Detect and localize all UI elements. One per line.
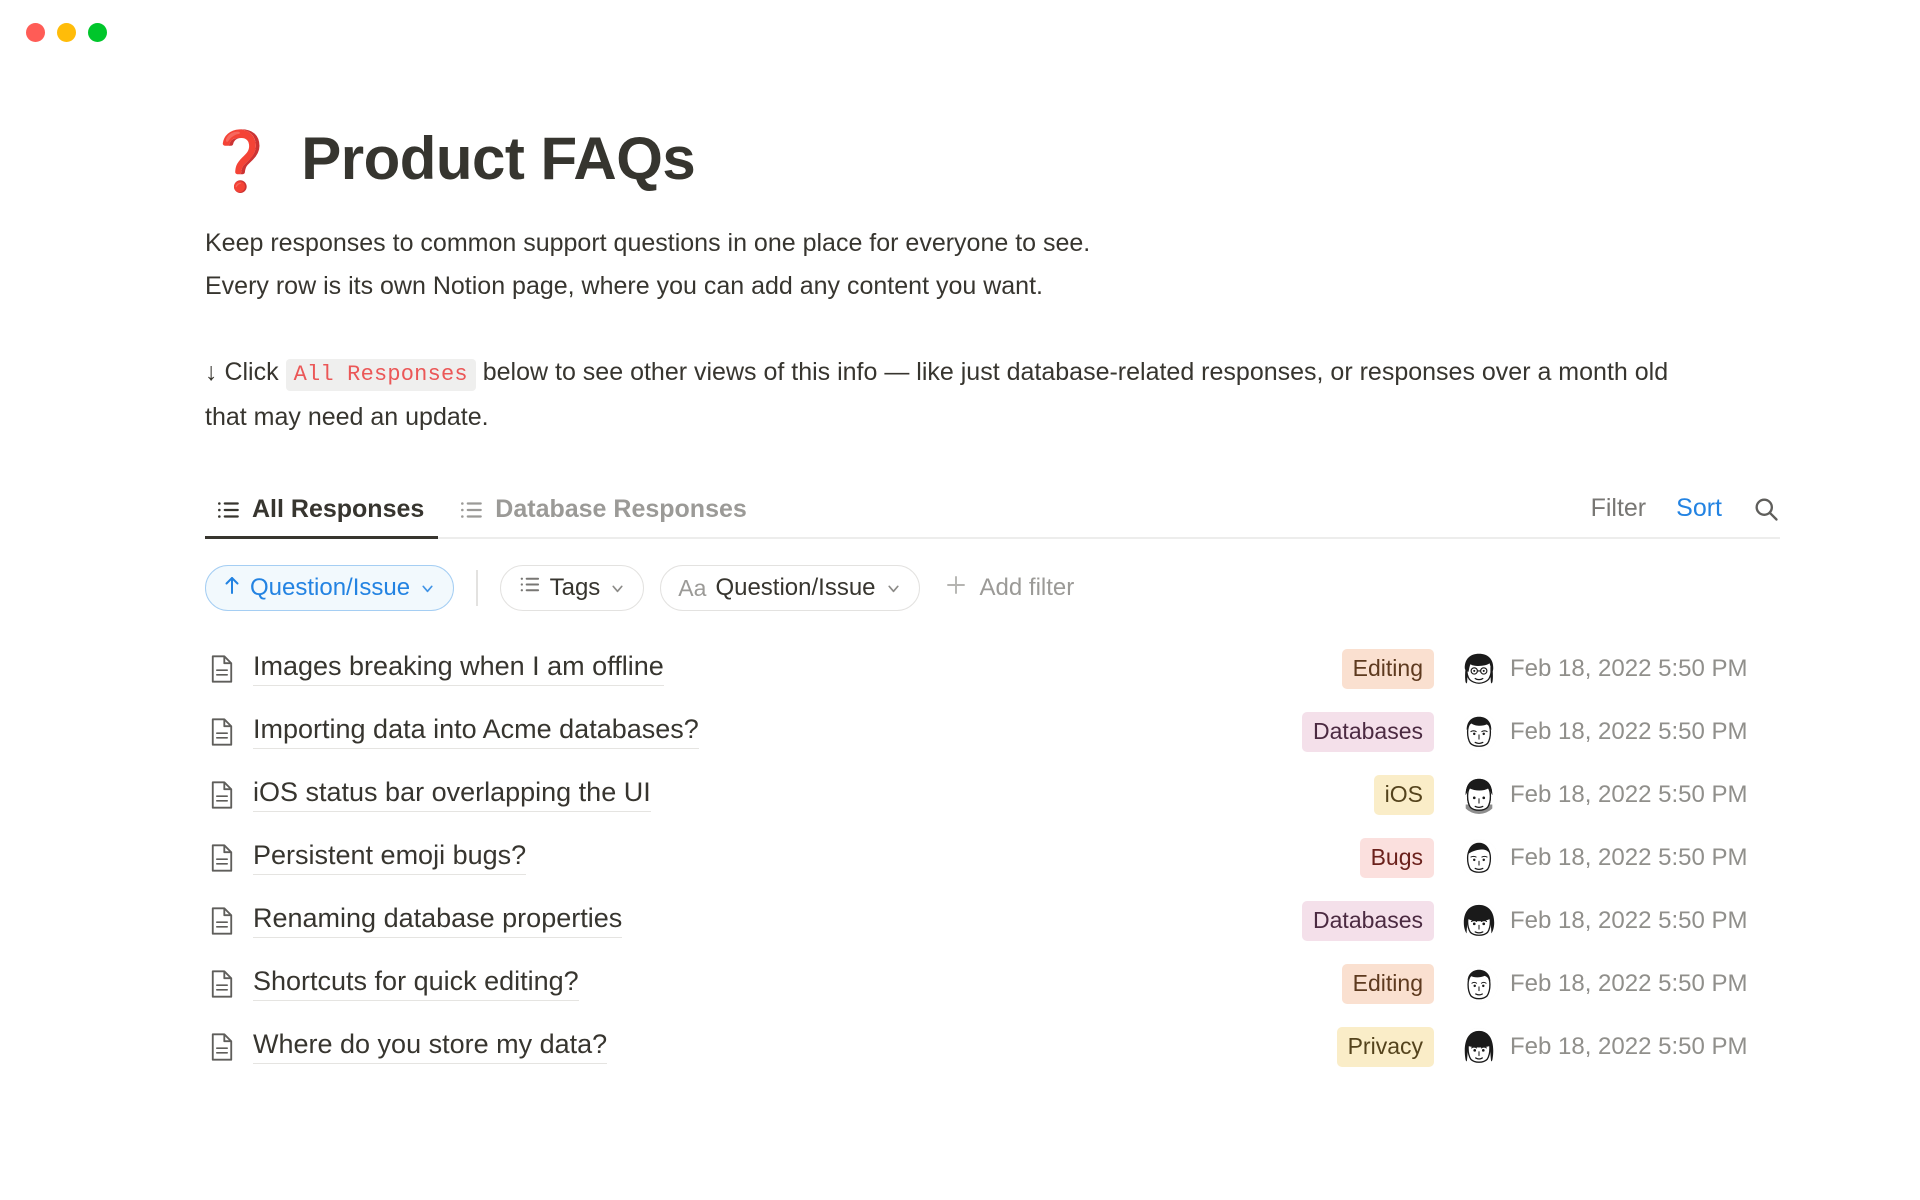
row-avatar-cell — [1448, 839, 1510, 877]
response-list: Images breaking when I am offlineEditing… — [205, 637, 1780, 1078]
description-spacer — [205, 308, 1715, 351]
row-avatar-cell — [1448, 776, 1510, 814]
document-icon — [205, 906, 239, 936]
row-tag-cell: Bugs — [1198, 838, 1448, 878]
row-avatar-cell — [1448, 713, 1510, 751]
status-badge[interactable]: iOS — [1374, 775, 1434, 815]
row-tag-cell: Databases — [1198, 712, 1448, 752]
row-title[interactable]: Shortcuts for quick editing? — [253, 966, 579, 1001]
row-avatar-cell — [1448, 650, 1510, 688]
row-tag-cell: Databases — [1198, 901, 1448, 941]
avatar[interactable] — [1460, 839, 1498, 877]
status-badge[interactable]: Editing — [1342, 649, 1434, 689]
row-title[interactable]: Images breaking when I am offline — [253, 651, 664, 686]
page-title: Product FAQs — [301, 129, 695, 189]
avatar[interactable] — [1460, 713, 1498, 751]
status-badge[interactable]: Databases — [1302, 712, 1434, 752]
filter-chip-tags[interactable]: Tags — [500, 565, 645, 611]
table-row[interactable]: Importing data into Acme databases?Datab… — [205, 700, 1780, 763]
chevron-down-icon — [419, 580, 436, 597]
chevron-down-icon — [885, 580, 902, 597]
sort-chip-label: Question/Issue — [250, 574, 410, 602]
chip-divider — [476, 570, 478, 606]
maximize-button[interactable] — [88, 23, 107, 42]
view-tabs: All Responses Database Responses — [205, 485, 761, 537]
add-filter-button[interactable]: Add filter — [944, 573, 1075, 604]
avatar[interactable] — [1460, 1028, 1498, 1066]
view-tabbar: All Responses Database Responses Filter … — [205, 485, 1780, 539]
question-mark-emoji-icon: ❓ — [205, 132, 277, 190]
description-callout: ↓ Click All Responses below to see other… — [205, 351, 1715, 439]
page-description: Keep responses to common support questio… — [205, 222, 1715, 439]
row-avatar-cell — [1448, 902, 1510, 940]
filter-chip-label: Question/Issue — [715, 574, 875, 602]
row-date: Feb 18, 2022 5:50 PM — [1510, 907, 1780, 935]
row-avatar-cell — [1448, 965, 1510, 1003]
arrow-up-icon — [223, 574, 241, 602]
filter-chip-row: Question/Issue Tags Aa Question/ — [205, 563, 1780, 613]
sort-chip-question-issue[interactable]: Question/Issue — [205, 565, 454, 611]
row-date: Feb 18, 2022 5:50 PM — [1510, 844, 1780, 872]
sort-button[interactable]: Sort — [1676, 494, 1722, 523]
avatar[interactable] — [1460, 902, 1498, 940]
filter-chip-label: Tags — [550, 574, 601, 602]
row-title[interactable]: Where do you store my data? — [253, 1029, 607, 1064]
close-button[interactable] — [26, 23, 45, 42]
row-date: Feb 18, 2022 5:50 PM — [1510, 718, 1780, 746]
status-badge[interactable]: Databases — [1302, 901, 1434, 941]
document-icon — [205, 717, 239, 747]
filter-button[interactable]: Filter — [1591, 494, 1647, 523]
row-tag-cell: Editing — [1198, 649, 1448, 689]
avatar[interactable] — [1460, 965, 1498, 1003]
row-title[interactable]: Importing data into Acme databases? — [253, 714, 699, 749]
list-icon — [458, 497, 484, 523]
table-row[interactable]: Images breaking when I am offlineEditing… — [205, 637, 1780, 700]
table-row[interactable]: Persistent emoji bugs?Bugs Feb 18, 2022 … — [205, 826, 1780, 889]
document-icon — [205, 654, 239, 684]
table-row[interactable]: Where do you store my data?Privacy Feb 1… — [205, 1015, 1780, 1078]
tab-all-responses[interactable]: All Responses — [205, 485, 438, 537]
row-date: Feb 18, 2022 5:50 PM — [1510, 1033, 1780, 1061]
document-icon — [205, 969, 239, 999]
callout-prefix: ↓ Click — [205, 358, 279, 386]
tab-database-responses[interactable]: Database Responses — [448, 485, 761, 537]
row-date: Feb 18, 2022 5:50 PM — [1510, 781, 1780, 809]
row-tag-cell: Editing — [1198, 964, 1448, 1004]
status-badge[interactable]: Privacy — [1337, 1027, 1434, 1067]
status-badge[interactable]: Bugs — [1360, 838, 1434, 878]
page-content: ❓ Product FAQs Keep responses to common … — [0, 120, 1920, 1078]
avatar[interactable] — [1460, 776, 1498, 814]
row-avatar-cell — [1448, 1028, 1510, 1066]
filter-chip-question-issue[interactable]: Aa Question/Issue — [660, 565, 919, 611]
document-icon — [205, 1032, 239, 1062]
description-line-1: Keep responses to common support questio… — [205, 222, 1715, 265]
tab-label: All Responses — [252, 495, 424, 524]
document-icon — [205, 843, 239, 873]
list-icon — [215, 497, 241, 523]
view-toolbar: Filter Sort — [1591, 494, 1780, 537]
text-property-icon: Aa — [678, 575, 706, 602]
list-icon — [518, 573, 541, 603]
plus-icon — [944, 573, 968, 604]
chevron-down-icon — [609, 580, 626, 597]
table-row[interactable]: Renaming database propertiesDatabases Fe… — [205, 889, 1780, 952]
row-title[interactable]: iOS status bar overlapping the UI — [253, 777, 651, 812]
inline-code-all-responses: All Responses — [286, 359, 476, 391]
document-icon — [205, 780, 239, 810]
row-date: Feb 18, 2022 5:50 PM — [1510, 655, 1780, 683]
description-line-2: Every row is its own Notion page, where … — [205, 265, 1715, 308]
table-row[interactable]: Shortcuts for quick editing?Editing Feb … — [205, 952, 1780, 1015]
row-title[interactable]: Persistent emoji bugs? — [253, 840, 526, 875]
search-icon[interactable] — [1752, 495, 1780, 523]
tab-label: Database Responses — [495, 495, 747, 524]
page-header: ❓ Product FAQs — [205, 120, 1780, 198]
add-filter-label: Add filter — [980, 574, 1075, 602]
table-row[interactable]: iOS status bar overlapping the UIiOS Feb… — [205, 763, 1780, 826]
row-title[interactable]: Renaming database properties — [253, 903, 622, 938]
row-tag-cell: iOS — [1198, 775, 1448, 815]
minimize-button[interactable] — [57, 23, 76, 42]
row-date: Feb 18, 2022 5:50 PM — [1510, 970, 1780, 998]
row-tag-cell: Privacy — [1198, 1027, 1448, 1067]
status-badge[interactable]: Editing — [1342, 964, 1434, 1004]
avatar[interactable] — [1460, 650, 1498, 688]
window-titlebar — [0, 0, 1920, 64]
